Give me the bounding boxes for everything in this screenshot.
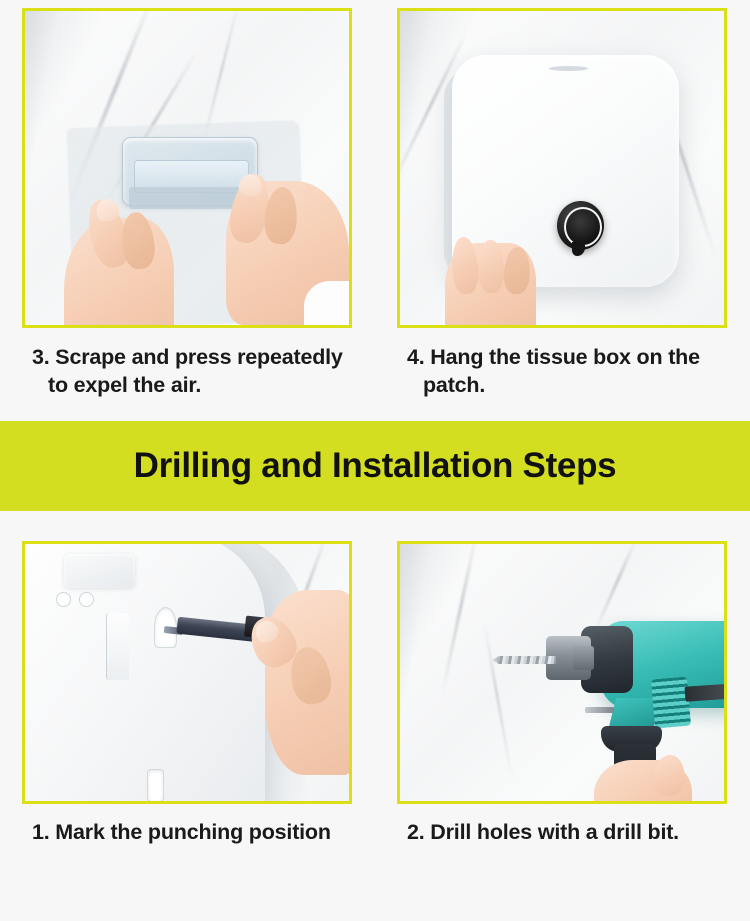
mount-hole: [57, 593, 70, 606]
caption-step3: 3. Scrape and press repeatedly to expel …: [46, 344, 349, 400]
caption-step4: 4. Hang the tissue box on the patch.: [421, 344, 724, 400]
banner-spacer: [0, 511, 750, 541]
panel-column-step2: [375, 541, 750, 804]
retaining-tab-slot: [106, 613, 129, 680]
drill-vent-grille: [651, 676, 691, 728]
photo-step2-drill-holes: [400, 544, 724, 801]
sleeve-cuff: [304, 281, 349, 325]
infographic-sheet: 3. Scrape and press repeatedly to expel …: [0, 0, 750, 921]
panel-column-step4: [375, 0, 750, 328]
mount-boss: [64, 554, 135, 587]
keyhole-slot-lower: [148, 770, 163, 801]
caption-cell-step3: 3. Scrape and press repeatedly to expel …: [0, 344, 375, 400]
caption-cell-step1: 1. Mark the punching position: [0, 819, 375, 847]
photo-step1-mark-position: [25, 544, 349, 801]
section-banner: Drilling and Installation Steps: [0, 421, 750, 511]
drill-depth-rod: [585, 707, 614, 713]
caption-step1: 1. Mark the punching position: [46, 819, 349, 847]
dispenser-back-plate: [25, 544, 265, 801]
photo-frame-step3: [22, 8, 352, 328]
section-banner-title: Drilling and Installation Steps: [134, 446, 617, 486]
photo-step4-hang-box: [400, 11, 724, 325]
photo-frame-step1: [22, 541, 352, 804]
panel-column-step1: [0, 541, 375, 804]
drilling-steps-caption-row: 1. Mark the punching position 2. Drill h…: [0, 819, 750, 847]
photo-frame-step4: [397, 8, 727, 328]
caption-step2: 2. Drill holes with a drill bit.: [421, 819, 724, 847]
photo-step3-press-patch: [25, 11, 349, 325]
photo-frame-step2: [397, 541, 727, 804]
caption-cell-step2: 2. Drill holes with a drill bit.: [375, 819, 750, 847]
adhesive-steps-caption-row: 3. Scrape and press repeatedly to expel …: [0, 344, 750, 400]
adhesive-steps-photo-row: [0, 0, 750, 328]
caption-cell-step4: 4. Hang the tissue box on the patch.: [375, 344, 750, 400]
panel-column-step3: [0, 0, 375, 328]
drill-bit: [497, 656, 555, 665]
mount-hole: [80, 593, 93, 606]
drilling-steps-photo-row: [0, 541, 750, 804]
dispenser-top-seam: [549, 66, 588, 71]
